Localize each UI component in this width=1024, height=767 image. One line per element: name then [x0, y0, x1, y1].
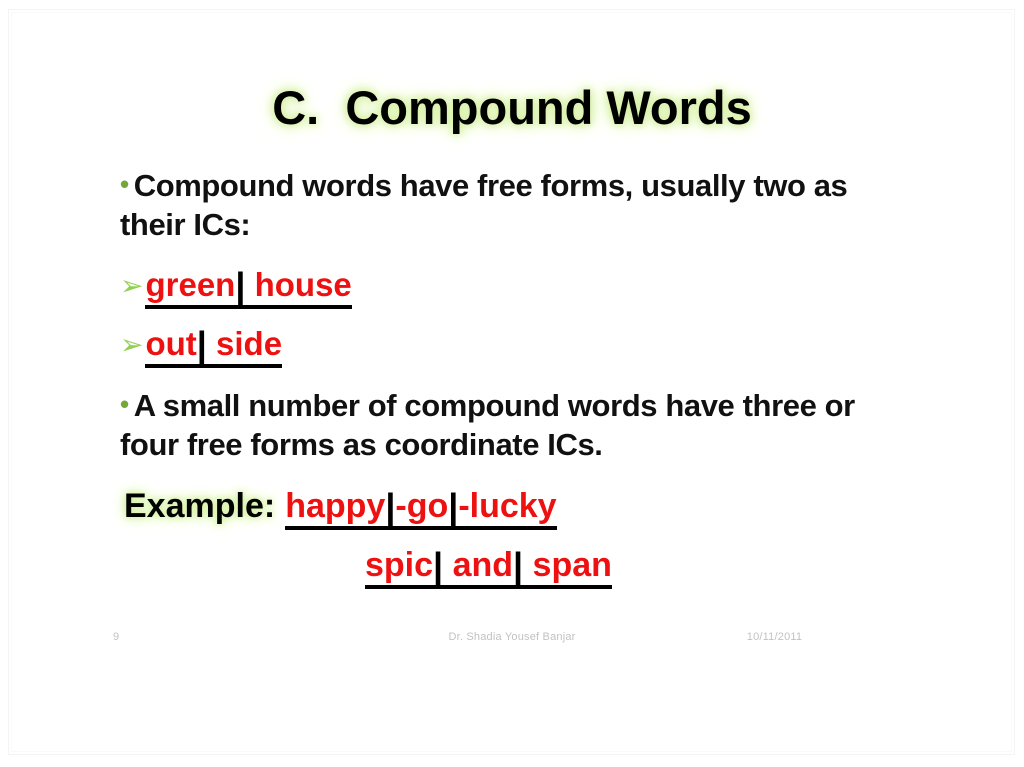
example-underline-wrap: green| house	[145, 268, 351, 307]
example-line-spic-and-span: spic| and| span	[365, 548, 612, 587]
example-item-greenhouse: ➢green| house	[120, 268, 352, 307]
bullet-dot-icon: •	[120, 389, 129, 419]
example-underline-wrap: happy|-go|-lucky	[285, 489, 556, 528]
example-word-left: green	[145, 266, 235, 303]
footer-date: 10/11/2011	[0, 631, 1024, 643]
example-word-left: out	[145, 325, 196, 362]
compound-part-3: span	[523, 546, 612, 584]
compound-separator-1: |	[433, 545, 443, 586]
bullet-paragraph-2: •A small number of compound words have t…	[120, 386, 880, 464]
bullet-paragraph-2-text: A small number of compound words have th…	[120, 388, 855, 462]
arrow-bullet-icon: ➢	[120, 329, 143, 360]
compound-separator-1: |	[385, 486, 395, 527]
bullet-paragraph-1-text: Compound words have free forms, usually …	[120, 168, 847, 242]
compound-separator-2: |	[513, 545, 523, 586]
example-underline-wrap: out| side	[145, 327, 282, 366]
compound-part-2: -go	[395, 487, 448, 525]
example-separator: |	[235, 265, 245, 306]
bullet-dot-icon: •	[120, 169, 129, 199]
arrow-bullet-icon: ➢	[120, 270, 143, 301]
compound-part-1: happy	[285, 487, 385, 525]
compound-part-2: and	[443, 546, 513, 584]
example-label: Example:	[124, 487, 275, 525]
page-title: C. Compound Words	[0, 84, 1024, 131]
example-word-right: side	[207, 325, 282, 362]
compound-part-1: spic	[365, 546, 433, 584]
slide-canvas: C. Compound Words •Compound words have f…	[0, 0, 1024, 767]
bullet-paragraph-1: •Compound words have free forms, usually…	[120, 166, 880, 244]
compound-separator-2: |	[448, 486, 458, 527]
example-item-outside: ➢out| side	[120, 327, 282, 366]
example-underline-wrap: spic| and| span	[365, 548, 612, 587]
example-line-happy-go-lucky: Example:happy|-go|-lucky	[124, 489, 557, 528]
compound-part-3: -lucky	[458, 487, 556, 525]
example-separator: |	[197, 324, 207, 365]
example-word-right: house	[245, 266, 351, 303]
